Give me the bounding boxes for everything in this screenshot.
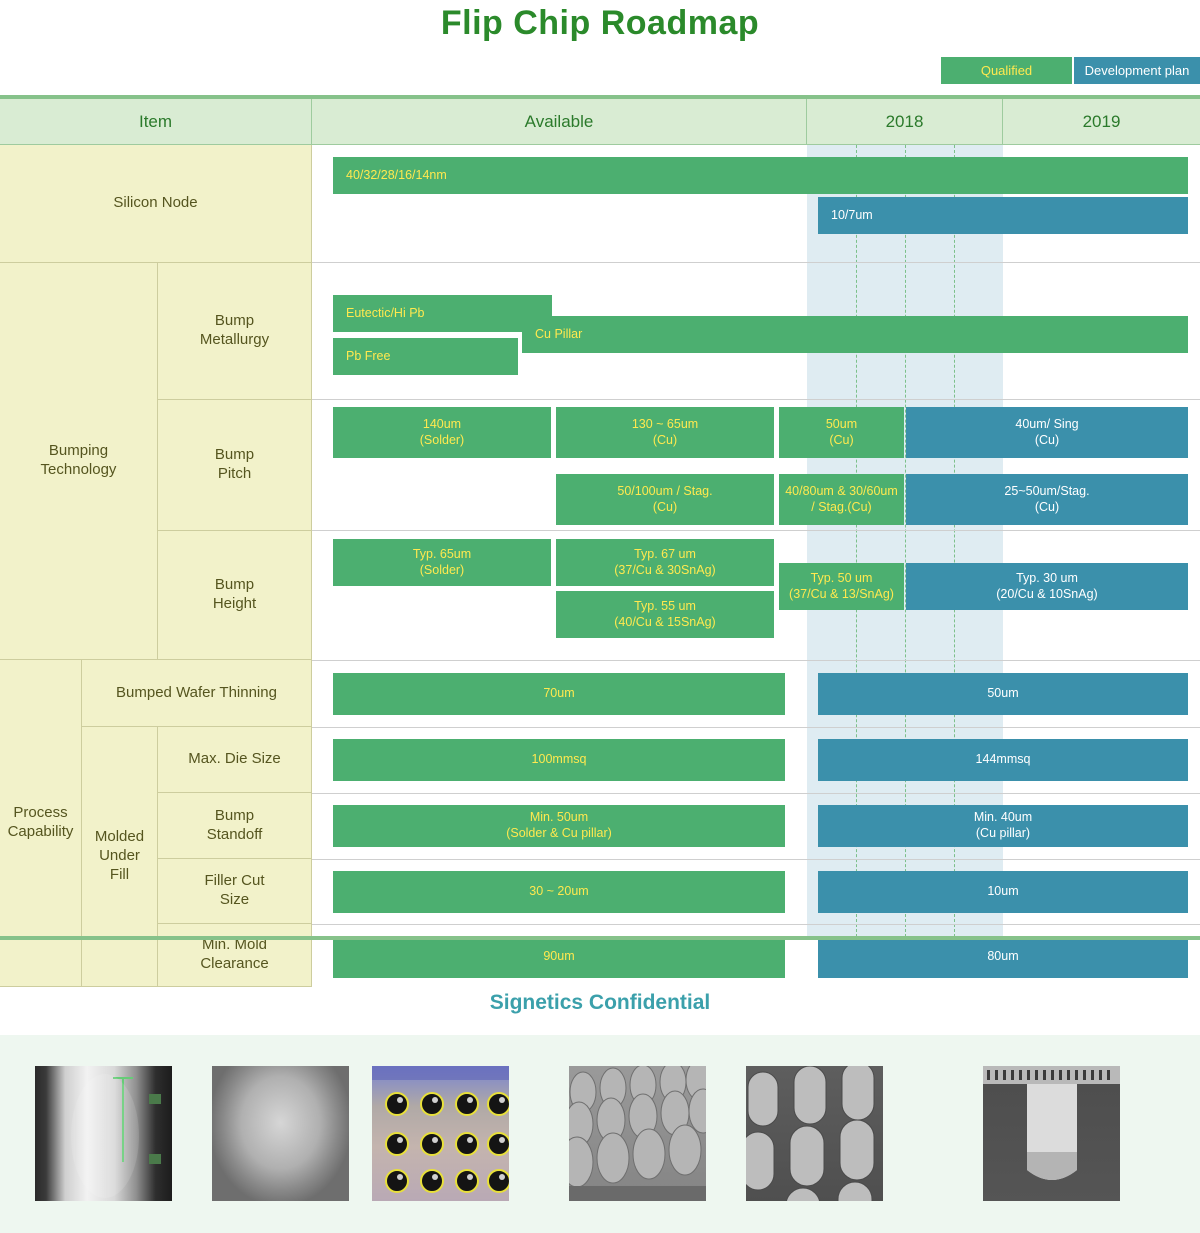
header-available: Available [312,99,807,145]
row-label-bumped-wafer-thinning: Bumped Wafer Thinning [82,660,312,727]
cu-pillar-rows-icon [746,1066,883,1201]
bar-min-mold-clearance-80um[interactable]: 80um [818,936,1188,978]
bar-max-die-size-100mmsq[interactable]: 100mmsq [333,739,785,781]
bar-bump-pitch-25-50um-stag[interactable]: 25~50um/Stag.(Cu) [906,474,1188,525]
bar-bump-height-65um[interactable]: Typ. 65um(Solder) [333,539,551,586]
bar-bump-height-55um[interactable]: Typ. 55 um(40/Cu & 15SnAg) [556,591,774,638]
bar-bump-pitch-50um[interactable]: 50um(Cu) [779,407,904,458]
row-label-filler-cut-size: Filler CutSize [158,859,312,924]
bump-joint-icon [983,1066,1120,1201]
bar-wafer-thinning-50um[interactable]: 50um [818,673,1188,715]
bar-bump-metallurgy-pb-free[interactable]: Pb Free [333,338,518,375]
bar-silicon-node-10-7um[interactable]: 10/7um [818,197,1188,234]
single-bump-sem-photo [212,1066,349,1201]
legend-qualified: Qualified [941,57,1072,84]
cu-pillar-array-sem-photo [746,1066,883,1201]
table-body: Silicon Node BumpingTechnology BumpMetal… [0,145,1200,937]
row-label-bump-pitch: BumpPitch [158,400,312,531]
bar-bump-pitch-130-65um[interactable]: 130 ~ 65um(Cu) [556,407,774,458]
bar-bump-pitch-140um[interactable]: 140um(Solder) [333,407,551,458]
confidential-note: Signetics Confidential [0,985,1200,1021]
legend-development-plan: Development plan [1074,57,1200,84]
bar-min-mold-clearance-90um[interactable]: 90um [333,936,785,978]
group-label-bumping-technology: BumpingTechnology [0,263,158,660]
group-label-molded-under-fill: MoldedUnderFill [82,727,158,987]
cross-section-bump-photo [35,1066,172,1201]
row-label-bump-height: BumpHeight [158,531,312,660]
bump-array-sem-photo [569,1066,706,1201]
bar-wafer-thinning-70um[interactable]: 70um [333,673,785,715]
row-label-bump-standoff: BumpStandoff [158,793,312,859]
bar-bump-pitch-50-100um-stag[interactable]: 50/100um / Stag.(Cu) [556,474,774,525]
page-title: Flip Chip Roadmap [0,0,1200,46]
bump-array-dots-icon [372,1066,509,1201]
row-label-bump-metallurgy: BumpMetallurgy [158,263,312,400]
bar-silicon-node-40nm[interactable]: 40/32/28/16/14nm [333,157,1188,194]
bar-filler-cut-size-30-20um[interactable]: 30 ~ 20um [333,871,785,913]
bar-bump-standoff-min-40um[interactable]: Min. 40um(Cu pillar) [818,805,1188,847]
bar-max-die-size-144mmsq[interactable]: 144mmsq [818,739,1188,781]
row-label-silicon-node: Silicon Node [0,145,312,263]
row-label-max-die-size: Max. Die Size [158,727,312,793]
table-header-row: Item Available 2018 2019 [0,99,1200,145]
bar-bump-pitch-40um-sing[interactable]: 40um/ Sing(Cu) [906,407,1188,458]
bar-filler-cut-size-10um[interactable]: 10um [818,871,1188,913]
bump-rows-icon [569,1066,706,1201]
photo-strip [0,1035,1200,1233]
bar-bump-metallurgy-cu-pillar[interactable]: Cu Pillar [522,316,1188,353]
row-label-min-mold-clearance: Min. MoldClearance [158,924,312,987]
header-2018: 2018 [807,99,1003,145]
cross-section-overlay-icon [35,1066,172,1201]
bump-joint-xray-photo [983,1066,1120,1201]
bar-bump-metallurgy-eutectic[interactable]: Eutectic/Hi Pb [333,295,552,332]
roadmap-table: Item Available 2018 2019 Silicon Node Bu… [0,95,1200,941]
header-item: Item [0,99,312,145]
bar-bump-height-67um[interactable]: Typ. 67 um(37/Cu & 30SnAg) [556,539,774,586]
table-bottom-rule [0,936,1200,940]
header-2019: 2019 [1003,99,1200,145]
bar-bump-height-50um[interactable]: Typ. 50 um(37/Cu & 13/SnAg) [779,563,904,610]
bar-bump-pitch-40-80um-stag[interactable]: 40/80um & 30/60um/ Stag.(Cu) [779,474,904,525]
bar-bump-standoff-min-50um[interactable]: Min. 50um(Solder & Cu pillar) [333,805,785,847]
bar-bump-height-30um[interactable]: Typ. 30 um(20/Cu & 10SnAg) [906,563,1188,610]
bump-array-optical-photo [372,1066,509,1201]
